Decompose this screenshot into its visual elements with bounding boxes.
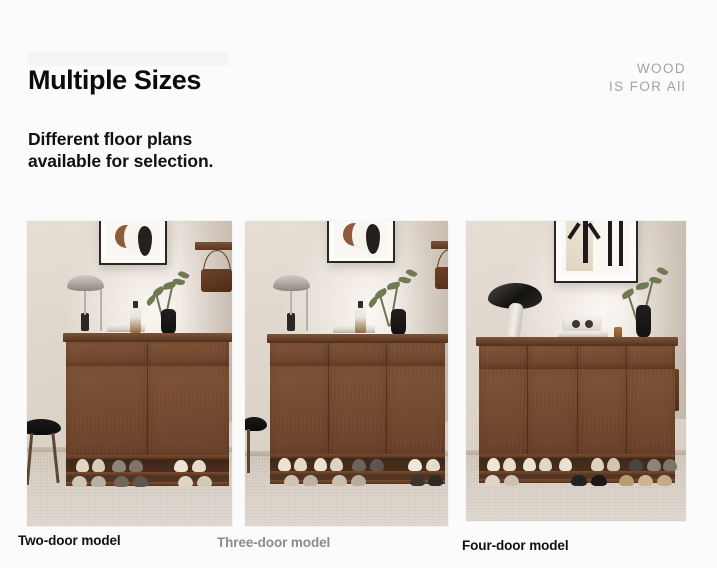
- art-stroke-trunk: [583, 221, 588, 263]
- shoe-item: [638, 475, 653, 486]
- product-photo-two-door[interactable]: [27, 221, 232, 526]
- art-shape-black: [138, 226, 152, 256]
- shoe-cabinet-two-door: [63, 333, 232, 486]
- shoe-item: [410, 475, 425, 486]
- product-caption-four-door: Four-door model: [462, 538, 569, 553]
- shoe-item: [178, 476, 193, 487]
- shoe-item: [523, 458, 536, 471]
- framed-wall-art: [99, 221, 167, 265]
- shoe-item: [485, 475, 500, 486]
- page-title: Multiple Sizes: [28, 66, 201, 95]
- shoe-item: [591, 458, 604, 471]
- shoe-item: [332, 475, 347, 486]
- shoe-item: [72, 476, 87, 487]
- art-mat: [106, 221, 160, 260]
- shoe-item: [647, 459, 661, 471]
- diffuser-neck: [133, 301, 138, 308]
- art-stroke-bar-1: [608, 221, 612, 266]
- shoe-item: [278, 458, 291, 471]
- shoe-item: [504, 475, 519, 486]
- drawer-panel: [528, 346, 577, 369]
- shelf-lip-top: [270, 454, 446, 458]
- shoe-item: [92, 459, 105, 472]
- drawer-panel: [578, 346, 627, 369]
- stool-leg-left: [247, 429, 250, 473]
- drawer-panel: [479, 346, 528, 369]
- shoe-item: [76, 459, 89, 472]
- cabinet-door: [387, 366, 445, 454]
- shoe-item: [426, 459, 440, 471]
- cabinet-door: [479, 369, 528, 454]
- framed-wall-art: [554, 221, 638, 283]
- shoe-item: [303, 475, 318, 486]
- art-mat: [562, 221, 629, 275]
- cabinet-door: [578, 369, 627, 454]
- black-vase: [161, 309, 176, 334]
- shoe-item: [294, 458, 307, 471]
- shoe-item: [192, 460, 206, 472]
- open-shoe-shelf: [479, 454, 675, 483]
- cabinet-top-surface: [267, 334, 448, 343]
- framed-wall-art: [327, 221, 395, 263]
- shoe-item: [663, 459, 677, 471]
- wall-hook-rail: [195, 242, 232, 250]
- lamp-rod-secondary: [306, 289, 308, 331]
- shoe-item: [591, 475, 607, 486]
- stacked-books: [333, 325, 375, 333]
- product-card-two-door[interactable]: Two-door model: [27, 221, 232, 526]
- product-photo-three-door[interactable]: [245, 221, 448, 526]
- product-gallery: Two-door model: [0, 221, 717, 531]
- open-shoe-shelf: [66, 455, 230, 486]
- shoe-item: [284, 475, 299, 486]
- white-speaker: [564, 317, 600, 331]
- shoe-item: [571, 475, 587, 486]
- shoe-item: [129, 460, 143, 472]
- cabinet-body: [270, 343, 446, 454]
- shoe-item: [487, 458, 500, 471]
- art-mat: [334, 221, 388, 258]
- speaker-driver-left: [572, 320, 580, 328]
- leather-bag: [201, 269, 232, 292]
- shoe-item: [351, 475, 366, 486]
- cabinet-door: [627, 369, 675, 454]
- wall-hook-rail: [431, 241, 448, 249]
- lamp-rod-secondary: [100, 289, 102, 331]
- shoe-item: [607, 458, 620, 471]
- cabinet-door: [66, 366, 148, 456]
- shoe-item: [539, 458, 552, 471]
- speaker-driver-right: [585, 320, 593, 328]
- cabinet-door-row: [270, 366, 446, 454]
- black-vase: [391, 309, 406, 335]
- cabinet-door: [329, 366, 388, 454]
- shoe-item: [133, 476, 148, 487]
- shoe-item: [408, 459, 422, 471]
- cabinet-door-row: [479, 369, 675, 454]
- title-highlight-band: [28, 52, 228, 66]
- product-caption-three-door: Three-door model: [217, 535, 330, 550]
- shoe-item: [114, 476, 129, 487]
- art-shape-black: [366, 224, 380, 254]
- product-card-three-door[interactable]: Three-door model: [245, 221, 448, 526]
- open-shoe-shelf: [270, 454, 446, 484]
- shoe-item: [352, 459, 366, 471]
- shoe-item: [197, 476, 212, 487]
- page-subtitle-line-1: Different floor plans: [28, 128, 213, 150]
- cabinet-drawer-row: [66, 342, 230, 367]
- drawer-panel: [66, 342, 148, 366]
- shoe-cabinet-three-door: [267, 334, 448, 484]
- drawer-panel: [270, 343, 329, 366]
- cabinet-drawer-row: [270, 343, 446, 367]
- drawer-panel: [387, 343, 445, 366]
- brand-logo: WOOD IS FOR All: [609, 60, 686, 96]
- diffuser-bottle: [130, 307, 141, 333]
- cabinet-top-surface: [63, 333, 232, 342]
- art-stroke-bar-2: [619, 221, 623, 266]
- cabinet-door: [528, 369, 577, 454]
- product-card-four-door[interactable]: Four-door model: [466, 221, 686, 521]
- drawer-panel: [148, 342, 229, 366]
- lamp-base: [287, 313, 295, 331]
- lamp-shade: [273, 275, 310, 291]
- leather-bag: [435, 267, 448, 289]
- shelf-lip-top: [66, 455, 230, 459]
- brand-logo-line-1: WOOD: [609, 60, 686, 78]
- diffuser-bottle: [355, 307, 366, 333]
- cabinet-door: [270, 366, 329, 454]
- shoe-cabinet-four-door: [476, 337, 678, 483]
- cabinet-door-row: [66, 366, 230, 456]
- lamp-base: [81, 313, 89, 331]
- shoe-item: [559, 458, 572, 471]
- cabinet-drawer-row: [479, 346, 675, 370]
- shoe-item: [112, 460, 126, 472]
- product-caption-two-door: Two-door model: [18, 533, 121, 548]
- lamp-shade: [67, 275, 104, 291]
- shoe-item: [657, 475, 672, 486]
- shoe-item: [629, 459, 643, 471]
- black-vase: [636, 305, 651, 337]
- cabinet-body: [66, 342, 230, 455]
- shoe-item: [91, 476, 106, 487]
- shoe-item: [428, 475, 443, 486]
- page-subtitle: Different floor plans available for sele…: [28, 128, 213, 173]
- shoe-item: [330, 458, 343, 471]
- shoe-item: [619, 475, 634, 486]
- diffuser-neck: [358, 301, 363, 308]
- cabinet-top-surface: [476, 337, 678, 346]
- shoe-item: [174, 460, 188, 472]
- brand-logo-line-2: IS FOR All: [609, 78, 686, 96]
- shoe-item: [503, 458, 516, 471]
- shoe-item: [314, 458, 327, 471]
- cabinet-door: [148, 366, 229, 456]
- cabinet-body: [479, 346, 675, 454]
- shoe-item: [370, 459, 384, 471]
- drawer-panel: [627, 346, 675, 369]
- drawer-panel: [329, 343, 388, 366]
- product-photo-four-door[interactable]: [466, 221, 686, 521]
- page-subtitle-line-2: available for selection.: [28, 150, 213, 172]
